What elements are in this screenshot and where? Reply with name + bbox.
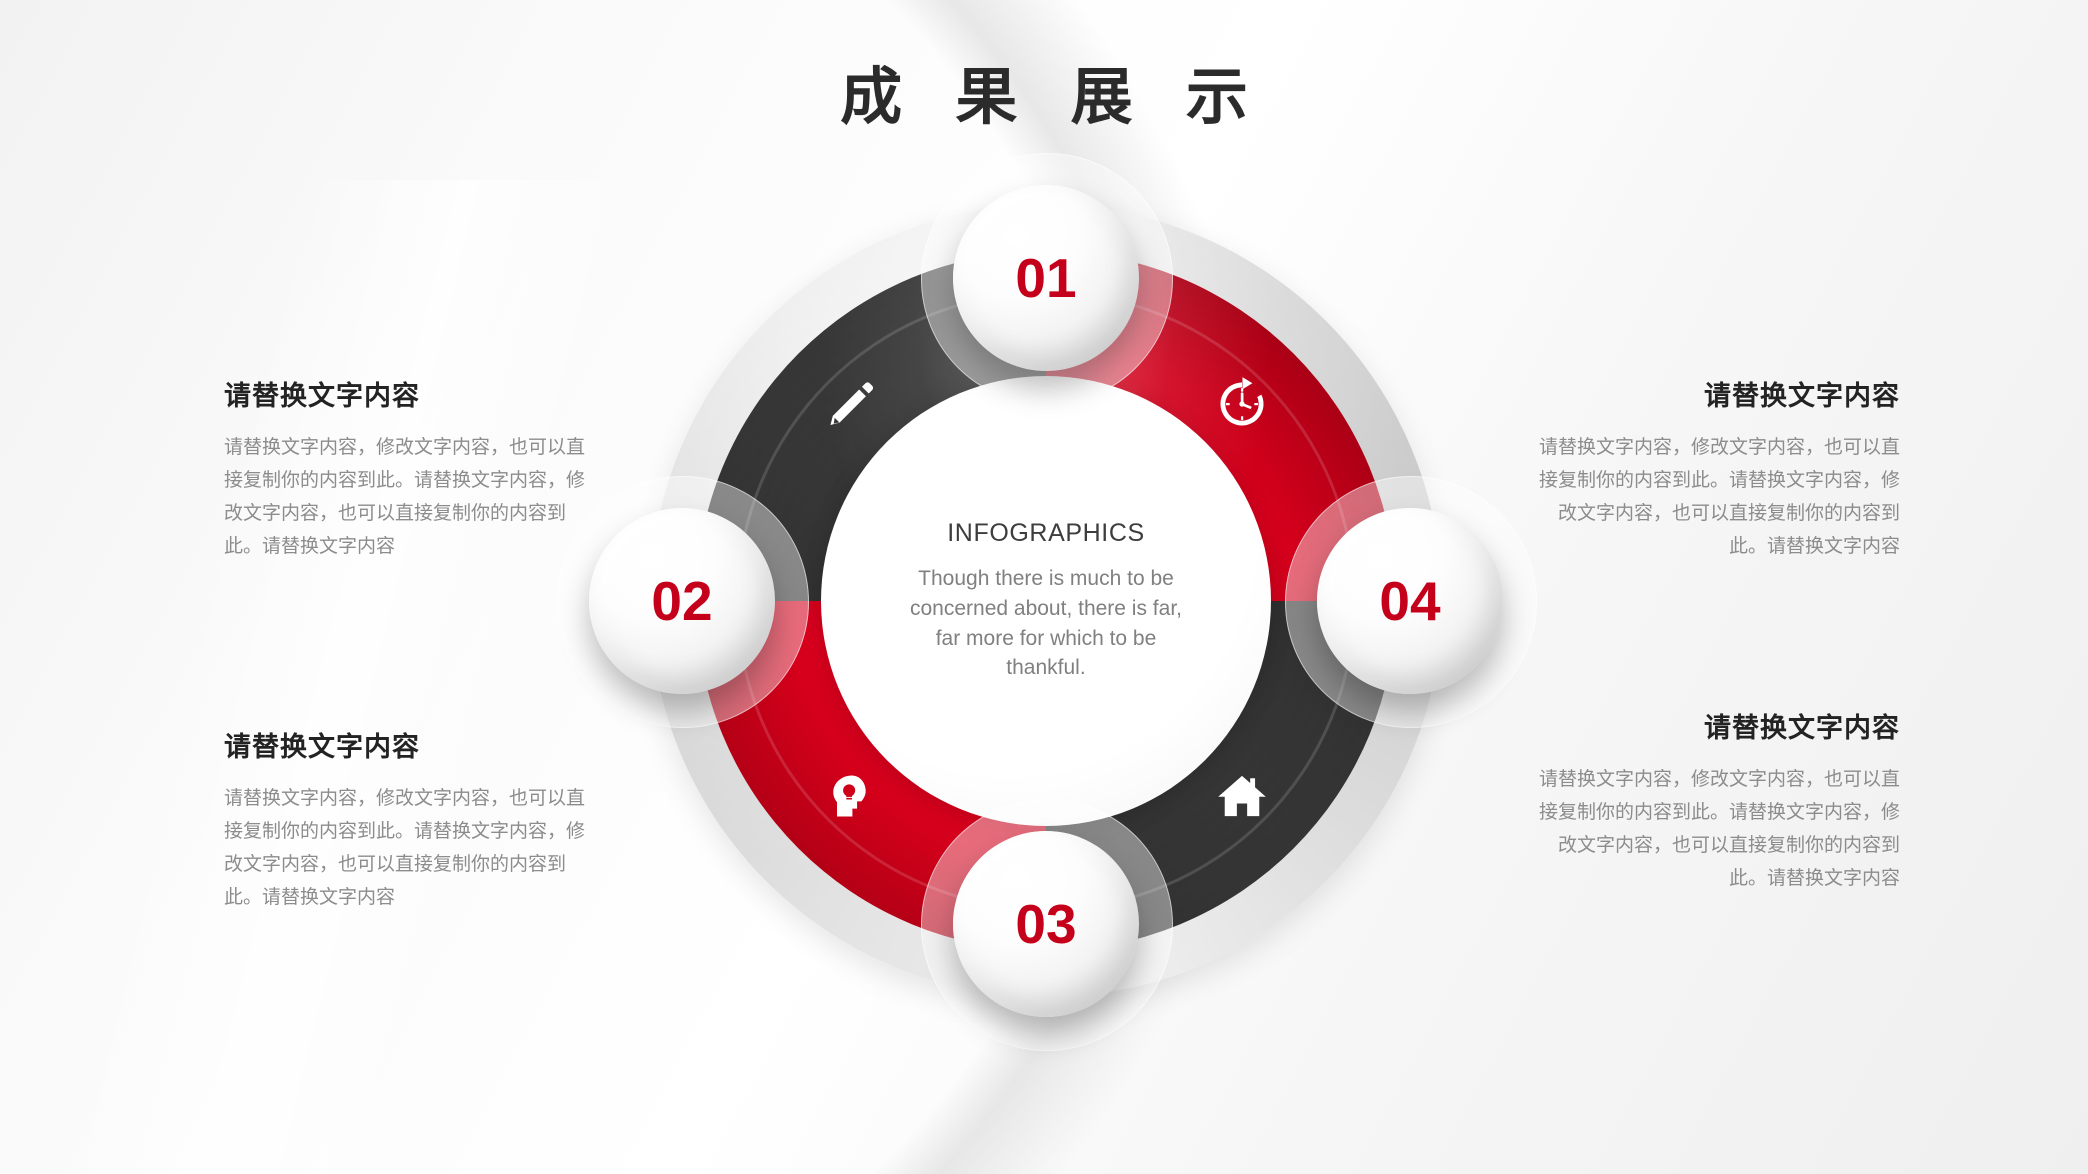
- node-number-03: 03: [1015, 892, 1076, 956]
- text-block-body: 请替换文字内容，修改文字内容，也可以直接复制你的内容到此。请替换文字内容，修改文…: [1530, 763, 1900, 895]
- text-block-heading: 请替换文字内容: [1530, 374, 1900, 413]
- text-block-heading: 请替换文字内容: [224, 725, 594, 764]
- node-sphere-03[interactable]: 03: [953, 831, 1139, 1017]
- center-disc: INFOGRAPHICS Though there is much to be …: [821, 376, 1271, 826]
- node-number-02: 02: [651, 569, 712, 633]
- slide-canvas: 成 果 展 示: [0, 0, 2088, 1174]
- center-title: INFOGRAPHICS: [947, 519, 1145, 548]
- node-number-04: 04: [1379, 569, 1440, 633]
- text-block-heading: 请替换文字内容: [1530, 706, 1900, 745]
- circular-infographic: INFOGRAPHICS Though there is much to be …: [596, 196, 1496, 1006]
- text-block-top-left: 请替换文字内容 请替换文字内容，修改文字内容，也可以直接复制你的内容到此。请替换…: [224, 374, 594, 563]
- node-sphere-02[interactable]: 02: [589, 508, 775, 694]
- page-title: 成 果 展 示: [0, 46, 2088, 136]
- text-block-top-right: 请替换文字内容 请替换文字内容，修改文字内容，也可以直接复制你的内容到此。请替换…: [1530, 374, 1900, 563]
- pencil-icon: [821, 374, 881, 434]
- home-icon: [1212, 766, 1272, 826]
- node-number-01: 01: [1015, 246, 1076, 310]
- clock-icon: [1212, 374, 1272, 434]
- text-block-bottom-right: 请替换文字内容 请替换文字内容，修改文字内容，也可以直接复制你的内容到此。请替换…: [1530, 706, 1900, 895]
- text-block-body: 请替换文字内容，修改文字内容，也可以直接复制你的内容到此。请替换文字内容，修改文…: [224, 431, 594, 563]
- text-block-bottom-left: 请替换文字内容 请替换文字内容，修改文字内容，也可以直接复制你的内容到此。请替换…: [224, 725, 594, 914]
- text-block-heading: 请替换文字内容: [224, 374, 594, 413]
- node-sphere-01[interactable]: 01: [953, 185, 1139, 371]
- idea-head-icon: [821, 766, 881, 826]
- center-body: Though there is much to be concerned abo…: [896, 564, 1196, 683]
- text-block-body: 请替换文字内容，修改文字内容，也可以直接复制你的内容到此。请替换文字内容，修改文…: [1530, 431, 1900, 563]
- node-sphere-04[interactable]: 04: [1317, 508, 1503, 694]
- text-block-body: 请替换文字内容，修改文字内容，也可以直接复制你的内容到此。请替换文字内容，修改文…: [224, 782, 594, 914]
